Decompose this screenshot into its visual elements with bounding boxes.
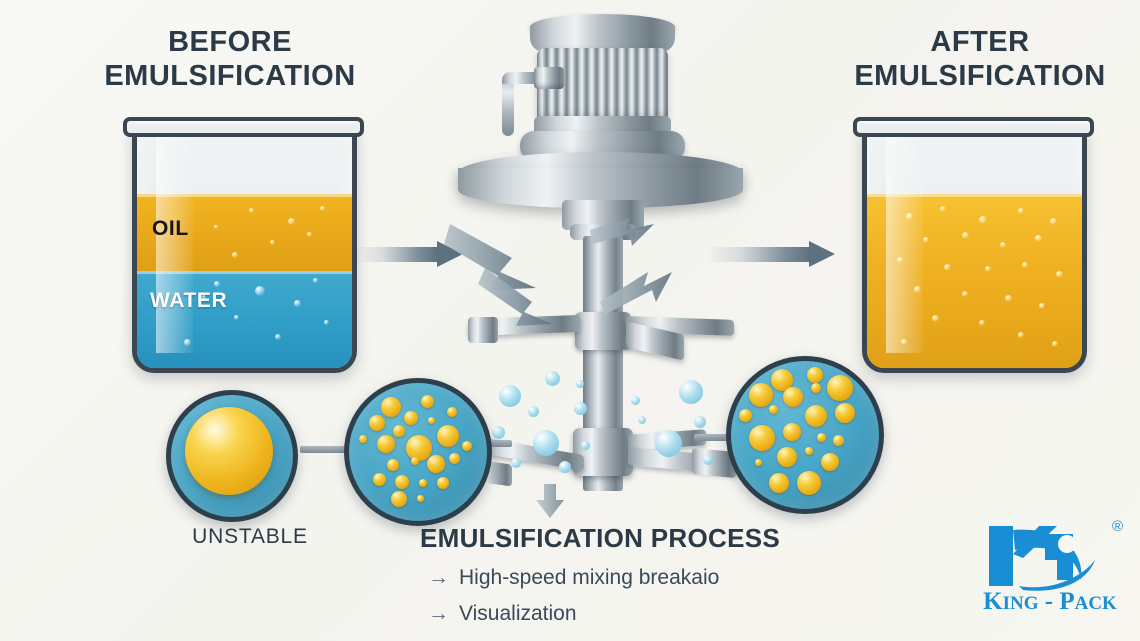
shear-bubble: [581, 441, 590, 450]
oil-droplet: [827, 375, 853, 401]
before-heading: BEFORE EMULSIFICATION: [85, 26, 375, 93]
water-label: WATER: [150, 289, 227, 313]
oil-surface-line: [137, 194, 352, 197]
oil-bubble: [232, 252, 238, 258]
shear-bubble: [631, 396, 640, 405]
oil-droplet: [437, 425, 459, 447]
unstable-caption: UNSTABLE: [120, 525, 380, 549]
side-pipe-vertical: [502, 78, 514, 136]
oil-droplet: [749, 425, 775, 451]
wordmark-ack: ACK: [1075, 593, 1117, 614]
shear-bubble: [499, 385, 521, 407]
oil-droplet: [811, 383, 821, 393]
oil-droplet: [373, 473, 386, 486]
emulsion-surface-line: [867, 194, 1082, 197]
oil-droplet: [411, 457, 419, 465]
after-heading-line1: AFTER: [830, 26, 1130, 60]
oil-droplet: [769, 405, 778, 414]
water-bubble: [275, 334, 281, 340]
oil-label: OIL: [152, 217, 189, 241]
oil-droplet: [749, 383, 773, 407]
oil-droplet: [381, 397, 401, 417]
oil-droplet: [817, 433, 826, 442]
emulsion-bubble: [932, 315, 939, 322]
oil-droplet: [835, 403, 855, 423]
oil-droplet: [404, 411, 418, 425]
arrow-right-icon: →: [428, 602, 449, 626]
diagram-canvas: BEFORE EMULSIFICATION AFTER EMULSIFICATI…: [0, 0, 1140, 641]
emulsion-bubble: [1035, 235, 1042, 242]
emulsion-bubble: [1005, 295, 1012, 302]
oil-droplet: [427, 455, 445, 473]
inset-dispersed: [344, 378, 492, 526]
shear-bubble: [638, 416, 646, 424]
oil-droplet: [387, 459, 399, 471]
emulsion-bubble: [979, 216, 987, 224]
oil-droplet: [419, 479, 427, 487]
oil-bubble: [320, 206, 325, 211]
shear-bubble: [492, 426, 505, 439]
water-bubble: [234, 315, 239, 320]
oil-droplet: [393, 425, 405, 437]
oil-droplet: [406, 435, 432, 461]
registered-trademark-icon: ®: [1112, 518, 1123, 535]
oil-droplet: [755, 459, 762, 466]
emulsion-bubble: [1018, 208, 1024, 214]
king-pack-logo: ® KING - PACK: [975, 520, 1125, 628]
emulsion-bubble: [897, 257, 903, 263]
beaker-rim: [853, 117, 1094, 137]
shear-bubble: [694, 416, 706, 428]
shear-bubble: [545, 371, 560, 386]
emulsion-bubble: [979, 320, 985, 326]
beaker-glass-body: [862, 122, 1087, 373]
water-bubble: [324, 320, 329, 325]
flow-arrow-in-left: [478, 268, 552, 326]
oil-droplet: [421, 395, 434, 408]
inset-unstable: [166, 390, 298, 522]
emulsion-bubble: [1050, 218, 1057, 225]
oil-droplet: [359, 435, 367, 443]
oil-droplet: [777, 447, 797, 467]
emulsion-bubble: [906, 213, 913, 220]
emulsion-bubble: [1039, 303, 1045, 309]
beaker-rim: [123, 117, 364, 137]
king-pack-wordmark: KING - PACK: [975, 588, 1125, 616]
water-layer: [137, 271, 352, 368]
oil-water-interface: [137, 271, 352, 274]
king-pack-logomark: [983, 520, 1107, 592]
emulsion-bubble: [1022, 262, 1028, 268]
shear-bubble: [528, 406, 539, 417]
shear-bubble: [576, 380, 584, 388]
shear-bubble: [574, 402, 587, 415]
oil-bubble: [288, 218, 295, 225]
oil-droplet: [449, 453, 460, 464]
oil-droplet: [417, 495, 424, 502]
inset-stable: [726, 356, 884, 514]
oil-droplet: [369, 415, 385, 431]
shear-bubble: [533, 430, 559, 456]
oil-droplet: [391, 491, 407, 507]
after-beaker: [862, 122, 1077, 364]
oil-droplet: [797, 471, 821, 495]
before-heading-line1: BEFORE: [85, 26, 375, 60]
shear-bubble: [679, 380, 703, 404]
oil-droplet: [783, 423, 801, 441]
emulsion-bubble: [1018, 332, 1024, 338]
after-heading-line2: EMULSIFICATION: [830, 60, 1130, 94]
oil-droplet: [447, 407, 457, 417]
oil-droplet: [428, 417, 435, 424]
large-oil-droplet: [185, 407, 273, 495]
oil-droplet: [821, 453, 839, 471]
shear-bubble: [511, 458, 521, 468]
beaker-glass-body: [132, 122, 357, 373]
oil-droplet: [769, 473, 789, 493]
oil-droplet: [783, 387, 803, 407]
flow-arrow-out-top-right: [590, 218, 654, 246]
wordmark-ing: ING: [1003, 593, 1039, 614]
process-bullet-1: →High-speed mixing breakaio: [428, 566, 719, 590]
emulsion-bubble: [914, 286, 921, 293]
emulsion-bubble: [962, 291, 968, 297]
wordmark-k: K: [983, 588, 1002, 615]
oil-droplet: [462, 441, 472, 451]
oil-droplet: [395, 475, 409, 489]
oil-droplet: [437, 477, 449, 489]
wordmark-p: P: [1059, 588, 1074, 615]
flow-arrow-out-right: [600, 272, 672, 314]
shear-bubble: [655, 430, 682, 457]
oil-droplet: [377, 435, 395, 453]
water-bubble: [255, 286, 265, 296]
after-heading: AFTER EMULSIFICATION: [830, 26, 1130, 93]
oil-droplet: [807, 367, 823, 383]
process-bullet-2-text: Visualization: [459, 602, 577, 625]
side-pipe-flange: [534, 67, 564, 89]
oil-droplet: [739, 409, 752, 422]
shear-bubble-field: [480, 360, 720, 500]
process-bullet-1-text: High-speed mixing breakaio: [459, 566, 719, 589]
process-bullet-2: →Visualization: [428, 602, 577, 626]
wordmark-dash: -: [1039, 588, 1060, 615]
arrow-right-icon: →: [428, 566, 449, 590]
process-title: EMULSIFICATION PROCESS: [420, 523, 780, 554]
emulsion-bubble: [940, 206, 946, 212]
before-beaker: OIL WATER: [132, 122, 347, 364]
before-heading-line2: EMULSIFICATION: [85, 60, 375, 94]
oil-droplet: [833, 435, 844, 446]
oil-droplet: [805, 447, 813, 455]
shear-bubble: [703, 455, 713, 465]
shear-bubble: [559, 461, 571, 473]
oil-droplet: [805, 405, 827, 427]
